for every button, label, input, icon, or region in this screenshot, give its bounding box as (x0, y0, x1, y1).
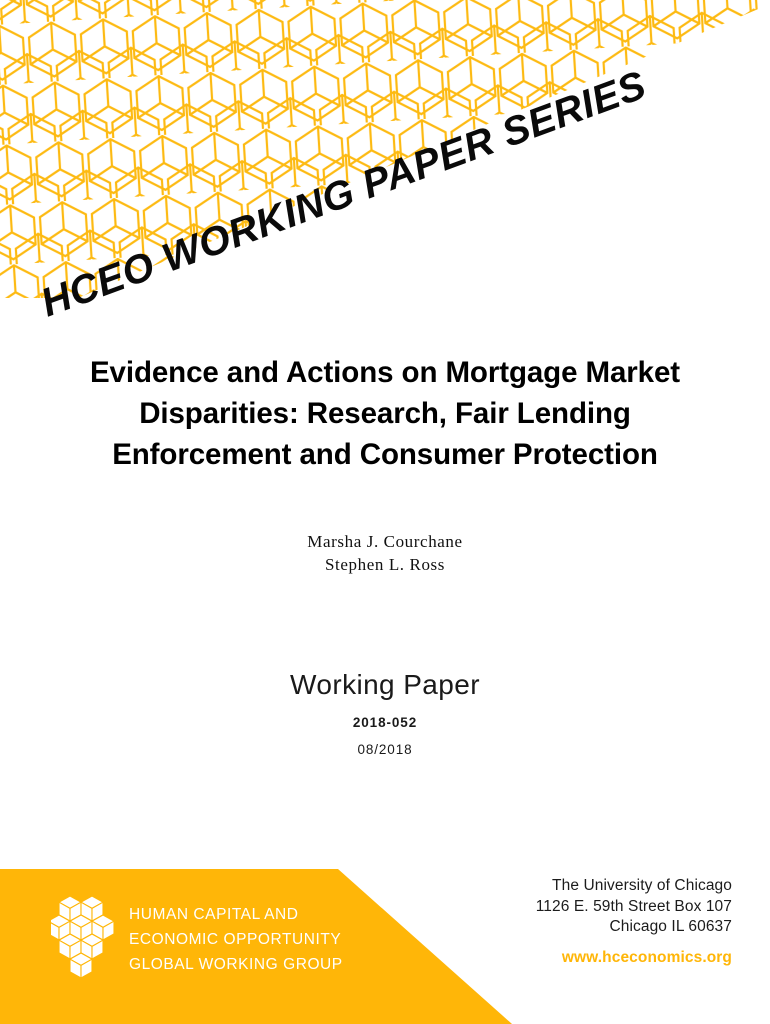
page-title: Evidence and Actions on Mortgage Market … (50, 352, 720, 475)
title-line-2: Disparities: Research, Fair Lending (50, 393, 720, 434)
organization-line-3: GLOBAL WORKING GROUP (129, 952, 343, 977)
title-line-3: Enforcement and Consumer Protection (50, 434, 720, 475)
working-paper-meta: Working Paper 2018-052 08/2018 (50, 668, 720, 757)
author-name: Marsha J. Courchane (50, 530, 720, 553)
working-paper-date: 08/2018 (50, 742, 720, 757)
address-line-1: The University of Chicago (536, 876, 732, 897)
contact-address: The University of Chicago 1126 E. 59th S… (536, 876, 732, 938)
organization-line-2: ECONOMIC OPPORTUNITY (129, 927, 343, 952)
title-line-1: Evidence and Actions on Mortgage Market (50, 352, 720, 393)
address-line-2: 1126 E. 59th Street Box 107 (536, 897, 732, 918)
organization-name: HUMAN CAPITAL AND ECONOMIC OPPORTUNITY G… (129, 902, 343, 977)
author-name: Stephen L. Ross (50, 553, 720, 576)
website-link[interactable]: www.hceconomics.org (562, 949, 732, 967)
working-paper-label: Working Paper (50, 668, 720, 702)
organization-line-1: HUMAN CAPITAL AND (129, 902, 343, 927)
author-list: Marsha J. Courchane Stephen L. Ross (50, 530, 720, 576)
hceo-hexagon-cubes-logo-icon (51, 894, 121, 980)
address-line-3: Chicago IL 60637 (536, 917, 732, 938)
working-paper-number: 2018-052 (50, 715, 720, 730)
